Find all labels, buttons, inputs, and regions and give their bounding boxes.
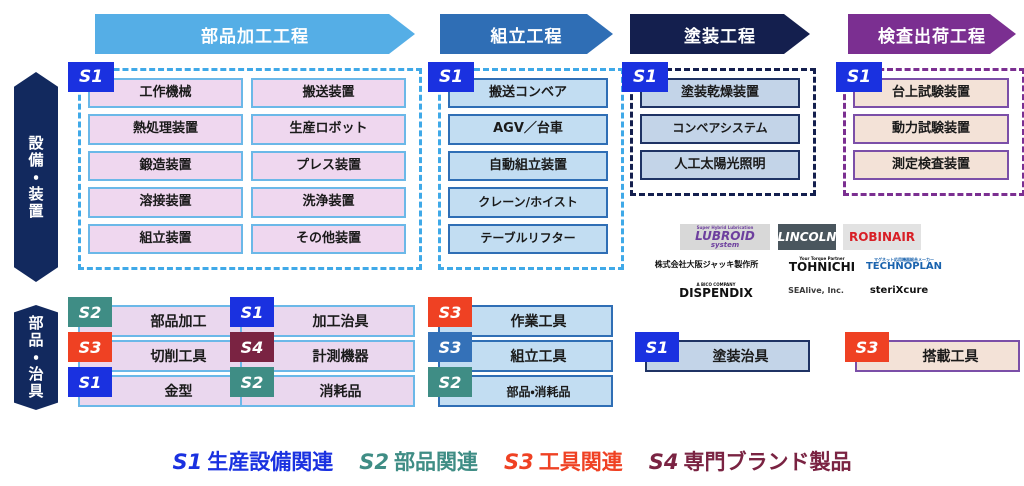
process-badge-inspection: S1: [836, 62, 882, 92]
process-header-inspection: 検査出荷工程: [848, 14, 1016, 54]
process-item-inspection[interactable]: 測定検査装置: [853, 150, 1009, 180]
logo-lincoln: LINCOLN: [778, 224, 836, 250]
logo-wordmark-osaka-jack: 株式会社大阪ジャッキ製作所: [655, 261, 759, 269]
legend-code-S2: S2: [359, 450, 389, 474]
process-item-assembly[interactable]: テーブルリフター: [448, 224, 608, 254]
legend-label-S1: 生産設備関連: [207, 446, 333, 476]
parts-badge-S3: S3: [428, 297, 472, 327]
process-item-machining[interactable]: 搬送装置: [251, 78, 406, 108]
process-item-assembly[interactable]: AGV／台車: [448, 114, 608, 144]
logo-wordmark-tohnichi: TOHNICHI: [789, 261, 855, 273]
legend-item-S2: S2部品関連: [359, 446, 478, 476]
legend-code-S1: S1: [173, 450, 203, 474]
side-label-parts-jigs: 部品・治具: [14, 305, 58, 410]
process-header-assembly: 組立工程: [440, 14, 613, 54]
diagram-canvas: 設備・装置部品・治具 部品加工工程工作機械搬送装置熱処理装置生産ロボット鍛造装置…: [0, 0, 1024, 486]
legend-item-S3: S3工具関連: [504, 446, 623, 476]
process-item-machining[interactable]: 洗浄装置: [251, 187, 406, 217]
parts-badge-S1: S1: [230, 297, 274, 327]
legend-label-S2: 部品関連: [394, 446, 478, 476]
logo-lubroid: Super Hybrid LubricationLUBROIDsystem: [680, 224, 770, 250]
process-item-machining[interactable]: 生産ロボット: [251, 114, 406, 144]
logo-sterixcure: steriXcure: [858, 281, 940, 301]
logo-wordmark-sterixcure: steriXcure: [870, 286, 928, 296]
logo-subtext-lubroid: system: [695, 242, 755, 249]
logo-technoplan: マグネット応用機器総合メーカーTECHNOPLAN: [863, 254, 945, 276]
legend-label-S4: 専門ブランド製品: [684, 446, 852, 476]
process-badge-painting: S1: [622, 62, 668, 92]
process-badge-machining: S1: [68, 62, 114, 92]
logo-osaka-jack: 株式会社大阪ジャッキ製作所: [634, 254, 779, 276]
logo-wordmark-robinair: ROBINAIR: [849, 231, 915, 243]
legend-code-S4: S4: [649, 450, 679, 474]
process-header-painting: 塗装工程: [630, 14, 810, 54]
parts-badge-S3: S3: [68, 332, 112, 362]
parts-badge-S2: S2: [230, 367, 274, 397]
parts-badge-S2: S2: [68, 297, 112, 327]
logo-wordmark-sealive: SEAlive, Inc.: [788, 287, 844, 295]
process-item-machining[interactable]: その他装置: [251, 224, 406, 254]
legend: S1生産設備関連S2部品関連S3工具関連S4専門ブランド製品: [0, 446, 1024, 476]
logo-wordmark-technoplan: TECHNOPLAN: [866, 262, 942, 272]
legend-code-S3: S3: [504, 450, 534, 474]
process-item-assembly[interactable]: クレーン/ホイスト: [448, 187, 608, 217]
logo-robinair: ROBINAIR: [843, 224, 921, 250]
logo-wordmark-lincoln: LINCOLN: [778, 231, 836, 243]
process-item-inspection[interactable]: 動力試験装置: [853, 114, 1009, 144]
process-header-machining: 部品加工工程: [95, 14, 415, 54]
logo-tohnichi: Your Torque PartnerTOHNICHI: [786, 254, 858, 276]
logo-wordmark-lubroid: LUBROID: [695, 230, 755, 242]
legend-label-S3: 工具関連: [539, 446, 623, 476]
parts-badge-S4: S4: [230, 332, 274, 362]
side-label-equipment: 設備・装置: [14, 72, 58, 282]
legend-item-S1: S1生産設備関連: [173, 446, 334, 476]
process-item-machining[interactable]: プレス装置: [251, 151, 406, 181]
process-item-machining[interactable]: 溶接装置: [88, 187, 243, 217]
parts-badge-S1: S1: [68, 367, 112, 397]
process-item-painting[interactable]: コンベアシステム: [640, 114, 800, 144]
process-item-painting[interactable]: 人工太陽光照明: [640, 150, 800, 180]
parts-badge-S2: S2: [428, 367, 472, 397]
process-item-machining[interactable]: 熱処理装置: [88, 114, 243, 144]
logo-sealive: SEAlive, Inc.: [782, 281, 850, 301]
parts-badge-S3: S3: [845, 332, 889, 362]
legend-item-S4: S4専門ブランド製品: [649, 446, 852, 476]
process-item-machining[interactable]: 鍛造装置: [88, 151, 243, 181]
process-item-assembly[interactable]: 自動組立装置: [448, 151, 608, 181]
parts-badge-S3: S3: [428, 332, 472, 362]
process-badge-assembly: S1: [428, 62, 474, 92]
parts-badge-S1: S1: [635, 332, 679, 362]
process-item-machining[interactable]: 組立装置: [88, 224, 243, 254]
logo-wordmark-dispendix: DISPENDIX: [679, 287, 753, 299]
logo-dispendix: A BICO COMPANYDISPENDIX: [663, 281, 769, 301]
